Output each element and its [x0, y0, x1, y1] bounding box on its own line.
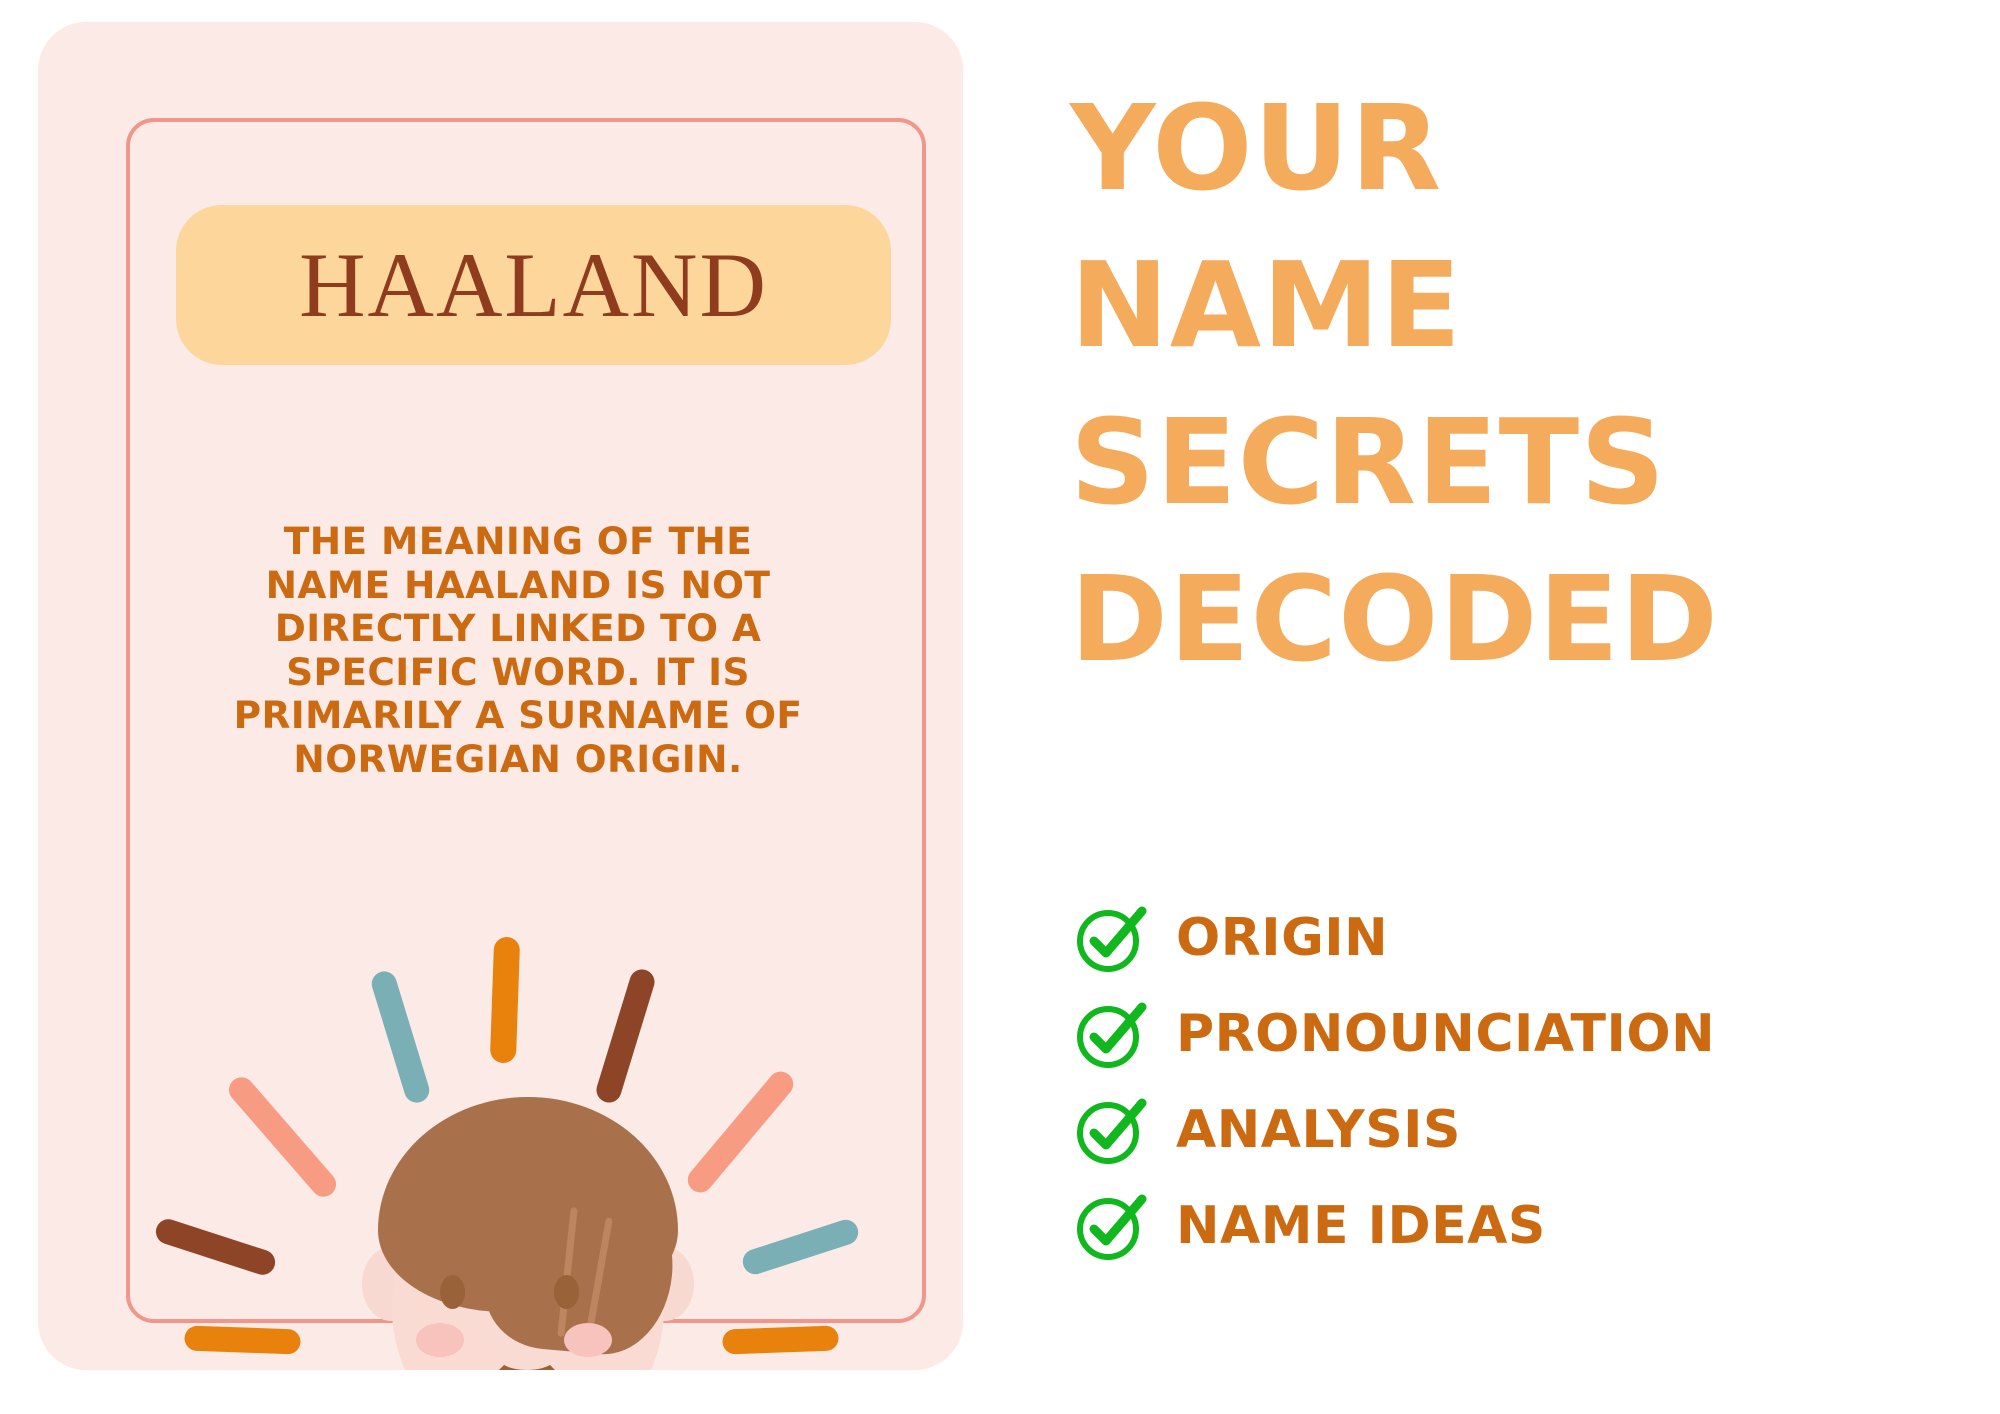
ray-orange-bottom-left	[184, 1325, 301, 1354]
headline: YOUR NAME SECRETS DECODED	[1070, 70, 1960, 698]
child-face-illustration	[158, 937, 918, 1370]
ray-brown-left	[153, 1216, 279, 1278]
checklist-label: NAME IDEAS	[1176, 1200, 1546, 1252]
checklist-label: PRONOUNCIATION	[1176, 1008, 1715, 1060]
checklist-label: ANALYSIS	[1176, 1104, 1461, 1156]
name-banner: HAALAND	[176, 205, 891, 365]
eye-right	[554, 1275, 579, 1309]
headline-line-4: DECODED	[1070, 541, 1960, 698]
checklist-item-name-ideas: NAME IDEAS	[1074, 1178, 1954, 1274]
child-face	[368, 1097, 688, 1370]
ray-teal-right	[740, 1217, 862, 1278]
cheek-left	[416, 1323, 464, 1357]
name-meaning-text: The meaning of the name Haaland is not d…	[228, 520, 808, 781]
checklist-item-analysis: ANALYSIS	[1074, 1082, 1954, 1178]
check-circle-icon	[1074, 997, 1148, 1071]
eye-left	[440, 1275, 465, 1309]
checklist-item-origin: ORIGIN	[1074, 890, 1954, 986]
checklist-item-pronounciation: PRONOUNCIATION	[1074, 986, 1954, 1082]
ray-orange-top	[490, 937, 520, 1064]
headline-line-1: YOUR	[1070, 70, 1960, 227]
feature-checklist: ORIGIN PRONOUNCIATION ANALYSIS	[1074, 890, 1954, 1274]
right-panel: YOUR NAME SECRETS DECODED ORIGIN PRONOUN…	[1060, 0, 1960, 1414]
ray-teal-upper-left	[369, 968, 433, 1105]
checklist-label: ORIGIN	[1176, 912, 1388, 964]
mouth-smile	[488, 1335, 566, 1370]
check-circle-icon	[1074, 1189, 1148, 1263]
ray-brown-upper-right	[593, 966, 657, 1105]
cheek-right	[564, 1323, 612, 1357]
name-card: HAALAND The meaning of the name Haaland …	[38, 22, 963, 1370]
check-circle-icon	[1074, 901, 1148, 975]
headline-line-2: NAME	[1070, 227, 1960, 384]
headline-line-3: SECRETS	[1070, 384, 1960, 541]
ray-salmon-left	[224, 1072, 341, 1202]
name-banner-text: HAALAND	[299, 239, 768, 331]
ray-orange-bottom-right	[722, 1325, 839, 1354]
ray-salmon-right	[683, 1067, 799, 1198]
check-circle-icon	[1074, 1093, 1148, 1167]
